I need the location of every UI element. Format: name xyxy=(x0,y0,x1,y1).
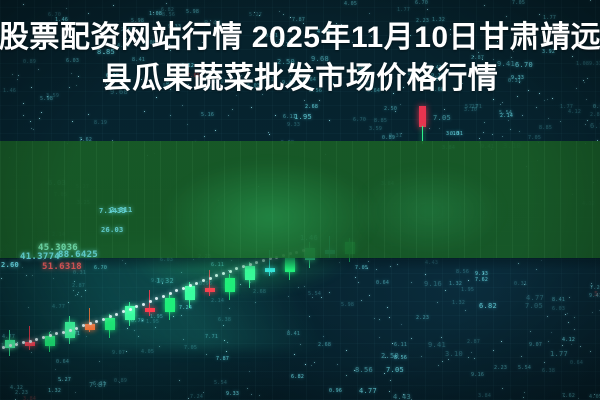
data-speck xyxy=(580,346,581,347)
title-banner xyxy=(0,141,600,258)
banner-image: 1.772.230.642.876.383.844.439.079.414.43… xyxy=(0,0,600,400)
data-speck xyxy=(445,290,446,291)
data-speck xyxy=(541,260,542,261)
data-speck xyxy=(521,356,522,357)
data-speck xyxy=(425,274,426,275)
data-speck xyxy=(337,364,338,365)
data-speck xyxy=(361,300,362,301)
candle-body xyxy=(5,340,14,348)
data-speck xyxy=(368,261,369,262)
data-speck xyxy=(510,129,511,130)
trend-dot xyxy=(115,313,118,316)
data-speck xyxy=(468,280,469,281)
candle-body xyxy=(125,306,134,320)
data-speck xyxy=(585,124,586,125)
data-speck xyxy=(429,128,430,129)
data-speck xyxy=(569,297,570,298)
title-line-2: 县瓜果蔬菜批发市场价格行情 xyxy=(102,60,499,98)
candle-body xyxy=(145,308,154,312)
data-speck xyxy=(547,316,548,317)
candle-body xyxy=(85,324,94,330)
data-speck xyxy=(574,317,575,318)
data-speck xyxy=(39,118,40,119)
data-speck xyxy=(119,382,120,383)
data-speck xyxy=(314,362,315,363)
trend-dot xyxy=(195,282,198,285)
trend-dot xyxy=(255,261,258,264)
data-speck xyxy=(564,396,565,397)
data-speck xyxy=(544,362,545,363)
candle-body xyxy=(65,322,74,338)
data-speck xyxy=(551,332,552,333)
data-speck xyxy=(548,341,549,342)
data-speck xyxy=(99,361,100,362)
data-speck xyxy=(501,341,502,342)
data-speck xyxy=(484,122,485,123)
data-speck xyxy=(269,134,270,135)
candle-body xyxy=(45,336,54,346)
data-speck xyxy=(384,373,385,374)
data-speck xyxy=(411,338,412,339)
data-speck xyxy=(442,361,443,362)
data-speck xyxy=(187,124,188,125)
data-speck xyxy=(571,344,572,345)
data-speck xyxy=(536,269,537,270)
trend-dot xyxy=(135,305,138,308)
data-speck xyxy=(376,269,377,270)
data-speck xyxy=(578,398,579,399)
data-speck xyxy=(55,369,56,370)
data-speck xyxy=(492,134,493,135)
data-speck xyxy=(523,397,524,398)
candle-body xyxy=(285,258,294,272)
data-speck xyxy=(379,337,380,338)
data-speck xyxy=(385,357,386,358)
data-speck xyxy=(390,380,391,381)
candle-body xyxy=(245,266,254,280)
data-speck xyxy=(188,398,189,399)
data-speck xyxy=(502,388,503,389)
data-speck xyxy=(590,351,591,352)
trend-dot xyxy=(95,320,98,323)
data-speck xyxy=(519,131,520,132)
trend-dot xyxy=(15,343,18,346)
data-speck xyxy=(390,266,391,267)
candle-body xyxy=(165,298,174,312)
candle-body xyxy=(105,318,114,330)
data-speck xyxy=(81,139,82,140)
data-speck xyxy=(251,394,252,395)
banner-title: 股票配资网站行情 2025年11月10日甘肃靖远 县瓜果蔬菜批发市场价格行情 xyxy=(0,0,600,117)
data-speck xyxy=(591,283,592,284)
data-speck xyxy=(346,375,347,376)
candle-body xyxy=(185,286,194,300)
data-speck xyxy=(548,118,549,119)
data-speck xyxy=(560,121,561,122)
banner-column-lines xyxy=(0,141,600,258)
data-speck xyxy=(387,307,388,308)
data-speck xyxy=(562,345,563,346)
data-speck xyxy=(565,314,566,315)
data-speck xyxy=(72,121,73,122)
data-speck xyxy=(411,282,412,283)
data-speck xyxy=(493,350,494,351)
trend-dot xyxy=(155,297,158,300)
data-speck xyxy=(329,120,330,121)
trend-dot xyxy=(235,267,238,270)
data-speck xyxy=(204,136,205,137)
data-speck xyxy=(403,394,404,395)
data-speck xyxy=(389,391,390,392)
data-speck xyxy=(311,365,312,366)
data-speck xyxy=(530,331,531,332)
data-speck xyxy=(479,138,480,139)
data-speck xyxy=(441,337,442,338)
trend-dot xyxy=(55,332,58,335)
candle-wick xyxy=(149,290,150,316)
data-speck xyxy=(401,324,402,325)
data-speck xyxy=(474,358,475,359)
data-speck xyxy=(508,120,509,121)
data-speck xyxy=(574,329,575,330)
data-speck xyxy=(31,128,32,129)
data-speck xyxy=(518,263,519,264)
data-speck xyxy=(259,395,260,396)
data-speck xyxy=(568,322,569,323)
candle-body xyxy=(225,278,234,292)
trend-dot xyxy=(75,327,78,330)
data-speck xyxy=(203,392,204,393)
data-speck xyxy=(401,133,402,134)
data-speck xyxy=(249,371,250,372)
data-speck xyxy=(367,268,368,269)
data-speck xyxy=(374,318,375,319)
data-speck xyxy=(60,380,61,381)
data-speck xyxy=(594,394,595,395)
data-speck xyxy=(30,121,31,122)
data-speck xyxy=(587,120,588,121)
data-speck xyxy=(421,356,422,357)
data-speck xyxy=(483,273,484,274)
title-line-1: 股票配资网站行情 2025年11月10日甘肃靖远 xyxy=(0,19,600,57)
data-speck xyxy=(247,388,248,389)
data-speck xyxy=(305,364,306,365)
data-speck xyxy=(592,312,593,313)
data-speck xyxy=(354,370,355,371)
data-speck xyxy=(471,352,472,353)
data-speck xyxy=(438,365,439,366)
data-speck xyxy=(397,264,398,265)
data-speck xyxy=(179,380,180,381)
data-speck xyxy=(75,392,76,393)
trend-dot xyxy=(215,274,218,277)
data-speck xyxy=(439,128,440,129)
candle-body xyxy=(25,342,34,346)
data-speck xyxy=(379,319,380,320)
data-speck xyxy=(468,357,469,358)
data-speck xyxy=(567,313,568,314)
data-speck xyxy=(437,302,438,303)
data-speck xyxy=(268,132,269,133)
data-speck xyxy=(33,129,34,130)
trend-dot xyxy=(35,338,38,341)
data-speck xyxy=(389,317,390,318)
data-speck xyxy=(448,359,449,360)
data-speck xyxy=(524,284,525,285)
data-speck xyxy=(215,130,216,131)
data-speck xyxy=(465,310,466,311)
trend-dot xyxy=(175,289,178,292)
data-speck xyxy=(483,132,484,133)
candle-body xyxy=(265,268,274,272)
candle-wick xyxy=(209,270,210,296)
candle-body xyxy=(205,288,214,292)
data-speck xyxy=(392,343,393,344)
candle-wick xyxy=(29,326,30,350)
data-speck xyxy=(502,136,503,137)
data-speck xyxy=(524,392,525,393)
data-speck xyxy=(591,286,592,287)
data-speck xyxy=(369,295,370,296)
